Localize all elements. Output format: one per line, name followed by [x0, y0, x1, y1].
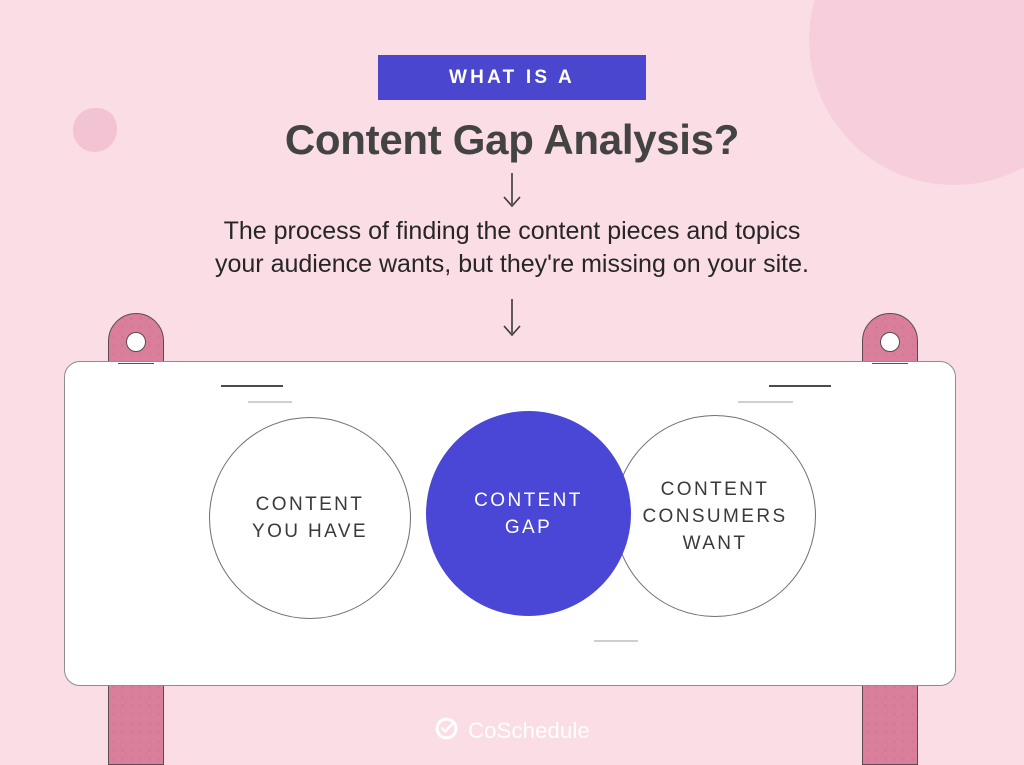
eyelet-hole-left [126, 332, 146, 352]
dash-top-right-2 [738, 401, 793, 403]
footer-brand: CoSchedule [0, 716, 1024, 746]
venn-label-line-1: CONTENT [642, 476, 787, 503]
dash-top-left-2 [248, 401, 292, 403]
arrow-down-icon-top [0, 172, 1024, 212]
venn-label-line-2: YOU HAVE [252, 518, 368, 545]
banner-label: WHAT IS A [378, 55, 646, 100]
dash-top-right-1 [769, 385, 831, 387]
venn-circle-content-consumers-want[interactable]: CONTENT CONSUMERS WANT [614, 415, 816, 617]
venn-circle-content-gap[interactable]: CONTENT GAP [426, 411, 631, 616]
page-title: Content Gap Analysis? [0, 116, 1024, 164]
venn-label-content-consumers-want: CONTENT CONSUMERS WANT [642, 476, 787, 557]
infographic-canvas: WHAT IS A Content Gap Analysis? The proc… [0, 0, 1024, 765]
banner-text: WHAT IS A [449, 67, 575, 89]
strap-stitch-line-right [872, 363, 908, 364]
brand-name: CoSchedule [468, 718, 590, 744]
venn-label-line-2: GAP [474, 514, 583, 541]
venn-label-content-you-have: CONTENT YOU HAVE [252, 491, 368, 545]
venn-label-line-1: CONTENT [252, 491, 368, 518]
coschedule-check-circle-icon [434, 716, 459, 746]
subtitle: The process of finding the content piece… [0, 215, 1024, 281]
dash-top-left-1 [221, 385, 283, 387]
venn-circle-content-you-have[interactable]: CONTENT YOU HAVE [209, 417, 411, 619]
venn-label-content-gap: CONTENT GAP [474, 487, 583, 541]
dash-bottom-center [594, 640, 638, 642]
venn-label-line-3: WANT [642, 530, 787, 557]
subtitle-line-1: The process of finding the content piece… [0, 215, 1024, 248]
subtitle-line-2: your audience wants, but they're missing… [0, 248, 1024, 281]
venn-label-line-1: CONTENT [474, 487, 583, 514]
eyelet-hole-right [880, 332, 900, 352]
strap-stitch-line-left [118, 363, 154, 364]
venn-label-line-2: CONSUMERS [642, 503, 787, 530]
